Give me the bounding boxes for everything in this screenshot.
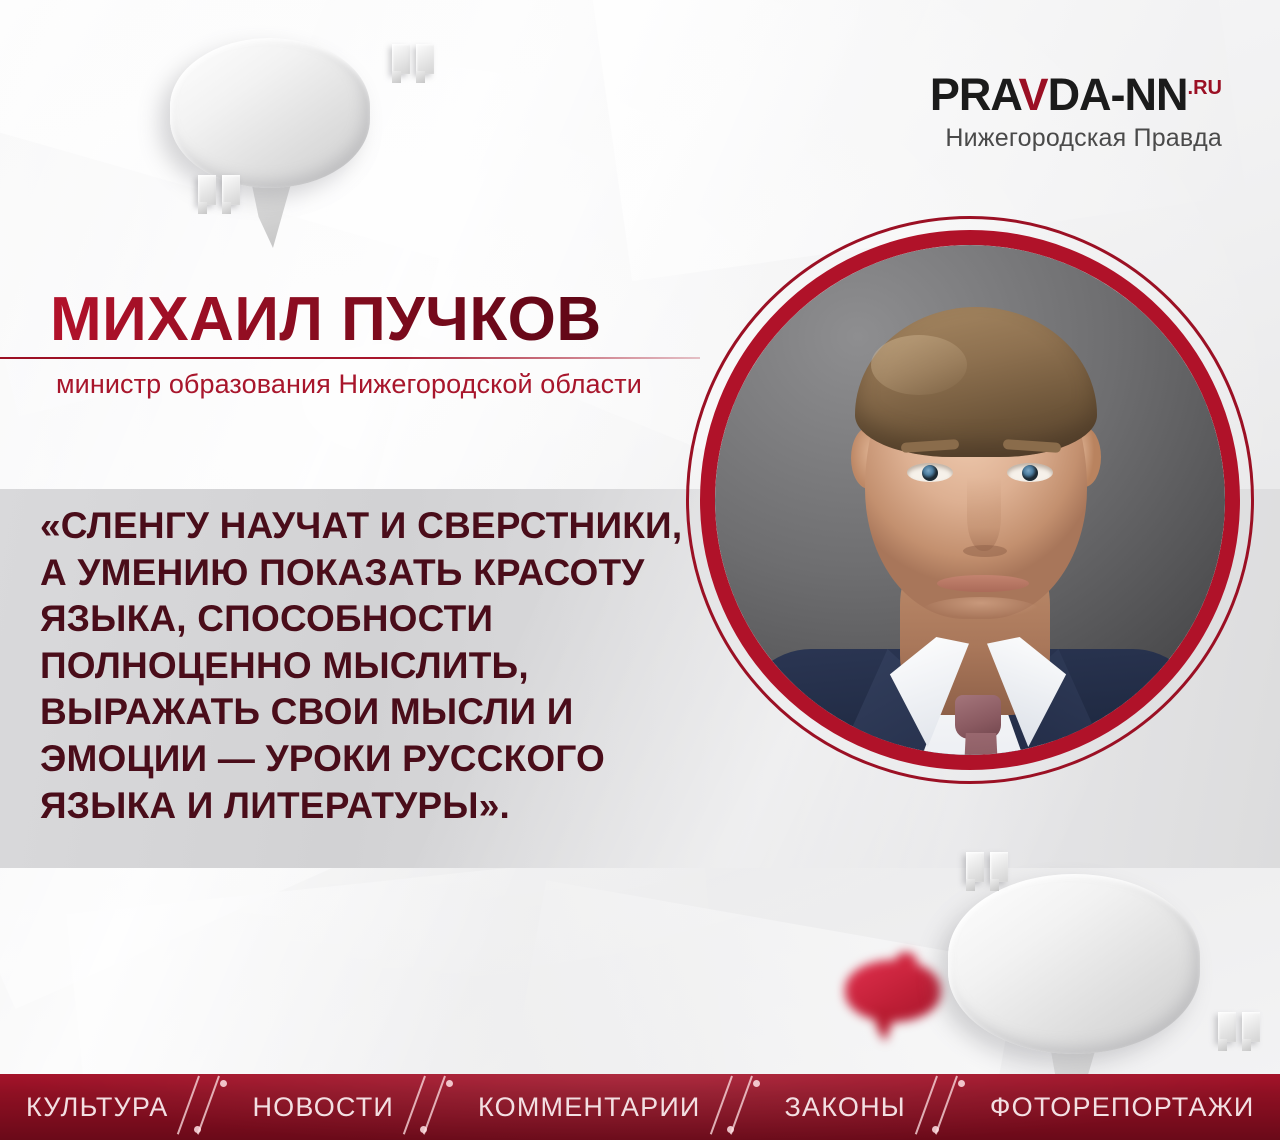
- logo-part-v: V: [1019, 69, 1048, 120]
- nav-item-novosti[interactable]: НОВОСТИ: [248, 1092, 398, 1123]
- speech-bubble-icon: [948, 862, 1200, 1067]
- bottom-nav: КУЛЬТУРА НОВОСТИ КОММЕНТАРИИ ЗАКОНЫ ФОТО…: [0, 1074, 1280, 1140]
- nav-item-fotoreportazhi[interactable]: ФОТОРЕПОРТАЖИ: [986, 1092, 1259, 1123]
- portrait-nose: [967, 477, 1001, 551]
- quote-line: А УМЕНИЮ ПОКАЗАТЬ КРАСОТУ: [40, 550, 680, 597]
- portrait: [686, 216, 1254, 876]
- site-logo[interactable]: PRAVDA-NN.RU Нижегородская Правда: [930, 72, 1222, 153]
- logo-part-pra: PRA: [930, 69, 1019, 120]
- speech-bubble-body: [948, 874, 1200, 1054]
- portrait-ring-main: [700, 230, 1240, 770]
- logo-part-danN: DA-NN: [1048, 69, 1188, 120]
- portrait-chin: [921, 597, 1041, 627]
- nav-item-kommentarii[interactable]: КОММЕНТАРИИ: [474, 1092, 705, 1123]
- logo-tld: .RU: [1188, 77, 1222, 99]
- speech-bubble-notch: [895, 952, 917, 972]
- quote-text: «СЛЕНГУ НАУЧАТ И СВЕРСТНИКИ, А УМЕНИЮ ПО…: [40, 503, 680, 829]
- name-divider: [0, 357, 700, 359]
- nav-item-zakony[interactable]: ЗАКОНЫ: [781, 1092, 910, 1123]
- quote-card: PRAVDA-NN.RU Нижегородская Правда МИХАИЛ…: [0, 0, 1280, 1140]
- quote-line: ЯЗЫКА, СПОСОБНОСТИ: [40, 596, 680, 643]
- quote-line: ВЫРАЖАТЬ СВОИ МЫСЛИ И: [40, 689, 680, 736]
- portrait-mouth: [937, 575, 1029, 592]
- portrait-eye-right: [1007, 463, 1053, 482]
- speaker-name: МИХАИЛ ПУЧКОВ: [50, 289, 602, 351]
- quote-line: ЯЗЫКА И ЛИТЕРАТУРЫ».: [40, 783, 680, 830]
- quote-line: «СЛЕНГУ НАУЧАТ И СВЕРСТНИКИ,: [40, 503, 680, 550]
- portrait-hair: [855, 307, 1097, 457]
- quote-line: ЭМОЦИИ — УРОКИ РУССКОГО: [40, 736, 680, 783]
- logo-wordmark: PRAVDA-NN.RU: [930, 72, 1222, 117]
- portrait-tie: [961, 733, 1001, 755]
- portrait-eye-left: [907, 463, 953, 482]
- nav-separator-icon: [398, 1074, 474, 1140]
- portrait-nostril: [963, 545, 1007, 557]
- logo-subtitle: Нижегородская Правда: [930, 124, 1222, 153]
- portrait-tie-knot: [955, 695, 1001, 739]
- nav-item-kultura[interactable]: КУЛЬТУРА: [22, 1092, 172, 1123]
- speech-bubble-icon: [845, 960, 941, 1034]
- portrait-photo: [715, 245, 1225, 755]
- speaker-title: министр образования Нижегородской област…: [56, 369, 642, 400]
- speech-bubble-icon: [170, 38, 370, 203]
- quote-line: ПОЛНОЦЕННО МЫСЛИТЬ,: [40, 643, 680, 690]
- nav-separator-icon: [172, 1074, 248, 1140]
- nav-separator-icon: [910, 1074, 986, 1140]
- speech-bubble-body: [170, 38, 370, 188]
- nav-separator-icon: [705, 1074, 781, 1140]
